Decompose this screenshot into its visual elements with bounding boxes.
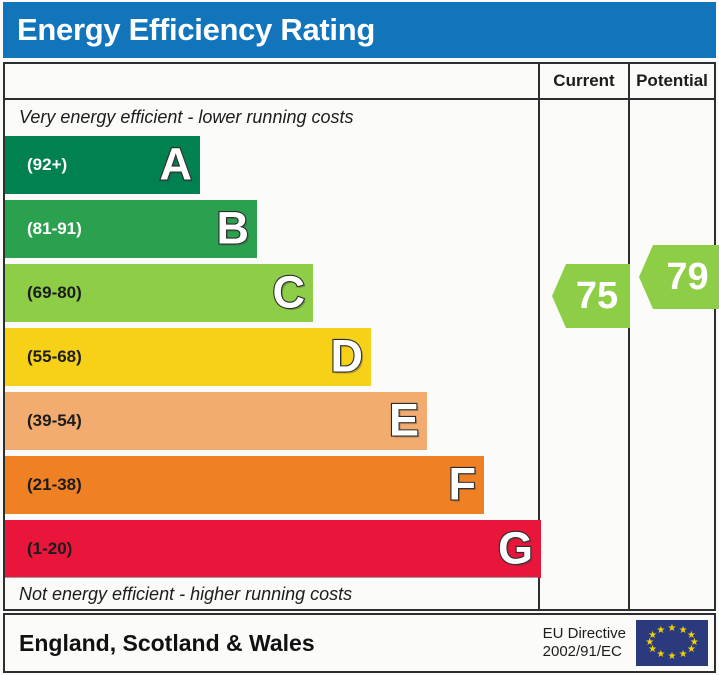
caption-inefficient: Not energy efficient - higher running co…: [5, 577, 538, 611]
band-list: (92+) A (81-91) B (69-80) C (55-68) D (3…: [5, 136, 538, 578]
band-row-g: (1-20) G: [5, 520, 541, 578]
column-header-potential: Potential: [628, 64, 714, 98]
band-row-c: (69-80) C: [5, 264, 313, 322]
band-range-c: (69-80): [5, 283, 82, 303]
current-rating-badge: 75: [552, 264, 630, 328]
eu-star-icon: ★: [668, 624, 677, 634]
band-row-a: (92+) A: [5, 136, 200, 194]
chart-footer: England, Scotland & Wales EU Directive 2…: [3, 613, 716, 673]
eu-directive-line2: 2002/91/EC: [543, 643, 626, 661]
band-letter-g: G: [498, 526, 533, 571]
band-row-d: (55-68) D: [5, 328, 371, 386]
column-header-current: Current: [538, 64, 628, 98]
band-row-e: (39-54) E: [5, 392, 427, 450]
band-range-g: (1-20): [5, 539, 72, 559]
band-letter-a: A: [160, 142, 193, 187]
band-range-f: (21-38): [5, 475, 82, 495]
energy-efficiency-rating-chart: Energy Efficiency Rating Current Potenti…: [0, 0, 719, 675]
chart-title-bar: Energy Efficiency Rating: [3, 2, 716, 58]
eu-star-icon: ★: [656, 626, 665, 636]
band-range-e: (39-54): [5, 411, 82, 431]
eu-star-icon: ★: [668, 652, 677, 662]
potential-rating-badge: 79: [639, 245, 719, 309]
band-range-b: (81-91): [5, 219, 82, 239]
eu-star-icon: ★: [656, 650, 665, 660]
band-letter-f: F: [449, 462, 477, 507]
eu-star-icon: ★: [679, 650, 688, 660]
rating-table: Current Potential Very energy efficient …: [3, 62, 716, 611]
band-range-d: (55-68): [5, 347, 82, 367]
band-range-a: (92+): [5, 155, 67, 175]
caption-efficient: Very energy efficient - lower running co…: [5, 100, 538, 134]
band-letter-b: B: [217, 206, 250, 251]
band-row-f: (21-38) F: [5, 456, 484, 514]
band-row-b: (81-91) B: [5, 200, 257, 258]
column-header-row: Current Potential: [5, 64, 714, 100]
eu-flag-icon: ★★★★★★★★★★★★: [636, 620, 708, 666]
page-title: Energy Efficiency Rating: [3, 12, 375, 48]
eu-star-icon: ★: [687, 645, 696, 655]
eu-directive-label: EU Directive 2002/91/EC: [543, 625, 636, 662]
band-letter-e: E: [389, 398, 419, 443]
column-divider-potential: [628, 100, 630, 611]
band-letter-c: C: [273, 270, 306, 315]
region-label: England, Scotland & Wales: [5, 630, 543, 657]
eu-directive-line1: EU Directive: [543, 625, 626, 643]
band-letter-d: D: [331, 334, 364, 379]
